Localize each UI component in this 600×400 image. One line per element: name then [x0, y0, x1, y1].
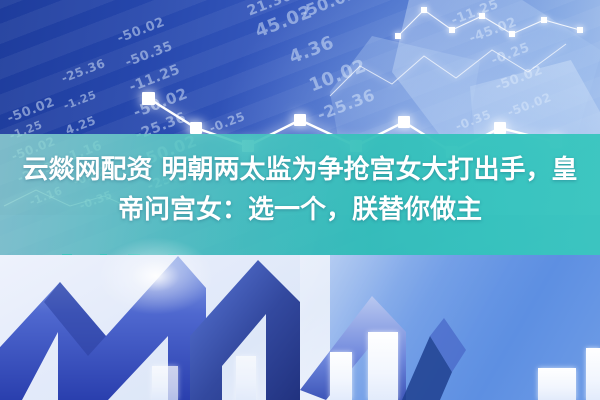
chart-polyline-mid: [330, 44, 566, 96]
bar-column-2: [368, 332, 398, 400]
bar-column-6: [236, 356, 256, 400]
chart-polyline-upper: [398, 10, 580, 36]
arrow-ribbon-layer: [0, 240, 600, 400]
headline-line-1: 云燚网配资 明朝两太监为争抢宫女大打出手，皇: [0, 150, 600, 190]
finance-news-banner: -50.02-1.25-50.02-25.36-1.16-25.36-1.254…: [0, 0, 600, 400]
bar-column-3: [538, 368, 576, 400]
bar-column-1: [330, 352, 352, 400]
glow-burst: [96, 236, 216, 316]
headline-line-2: 帝问宫女：选一个，朕替你做主: [0, 190, 600, 230]
headline: 云燚网配资 明朝两太监为争抢宫女大打出手，皇 帝问宫女：选一个，朕替你做主: [0, 150, 600, 230]
bar-column-5: [152, 366, 178, 400]
bar-column-4: [586, 348, 600, 400]
